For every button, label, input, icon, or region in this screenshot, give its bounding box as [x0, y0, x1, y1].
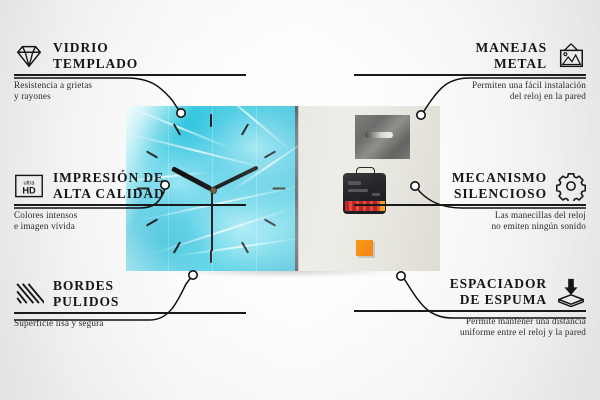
- feature-desc: Las manecillas del reloj no emiten ningú…: [354, 210, 586, 233]
- diagonal-lines-icon: [14, 279, 44, 309]
- feature-desc: Permiten una fácil instalación del reloj…: [354, 80, 586, 103]
- feature-desc: Resistencia a grietas y rayones: [14, 80, 246, 103]
- infographic-canvas: VIDRIO TEMPLADO Resistencia a grietas y …: [0, 0, 600, 400]
- feature-polished-edges: BORDES PULIDOS Superficie lisa y segura: [14, 278, 246, 329]
- divider: [354, 204, 586, 206]
- feature-tempered-glass: VIDRIO TEMPLADO Resistencia a grietas y …: [14, 40, 246, 102]
- hour-tick: [210, 114, 212, 127]
- divider: [14, 74, 246, 76]
- feature-desc: Permite mantener una distancia uniforme …: [354, 316, 586, 339]
- orange-foam-spacer: [356, 240, 373, 256]
- divider: [14, 312, 246, 314]
- feature-title: METAL: [475, 56, 547, 72]
- divider: [14, 204, 246, 206]
- feature-title: SILENCIOSO: [452, 186, 547, 202]
- feature-title: MECANISMO: [452, 170, 547, 186]
- feature-foam-spacer: ESPACIADOR DE ESPUMA Permite mantener un…: [354, 276, 586, 338]
- hour-tick: [210, 250, 212, 263]
- feature-title: MANEJAS: [475, 40, 547, 56]
- feature-title: IMPRESIÓN DE: [53, 170, 165, 186]
- feature-desc: Colores intensos e imagen vívida: [14, 210, 246, 233]
- svg-text:HD: HD: [22, 185, 36, 195]
- hanger-slot: [365, 132, 393, 138]
- feature-title: TEMPLADO: [53, 56, 138, 72]
- feature-hd-print: ultra HD IMPRESIÓN DE ALTA CALIDAD Color…: [14, 170, 246, 232]
- arrow-press-pad-icon: [556, 277, 586, 307]
- ultra-hd-icon: ultra HD: [14, 171, 44, 201]
- feature-desc: Superficie lisa y segura: [14, 318, 246, 329]
- divider: [354, 310, 586, 312]
- feature-title: PULIDOS: [53, 294, 119, 310]
- gear-icon: [556, 171, 586, 201]
- feature-title: DE ESPUMA: [450, 292, 547, 308]
- feature-title: BORDES: [53, 278, 119, 294]
- divider: [354, 74, 586, 76]
- metal-hanger-plate: [355, 115, 410, 159]
- picture-frame-icon: [556, 41, 586, 71]
- diamond-icon: [14, 41, 44, 71]
- feature-silent-mechanism: MECANISMO SILENCIOSO Las manecillas del …: [354, 170, 586, 232]
- feature-title: ALTA CALIDAD: [53, 186, 165, 202]
- feature-title: VIDRIO: [53, 40, 138, 56]
- feature-metal-handles: MANEJAS METAL Permiten una fácil instala…: [354, 40, 586, 102]
- hour-tick: [273, 188, 286, 190]
- feature-title: ESPACIADOR: [450, 276, 547, 292]
